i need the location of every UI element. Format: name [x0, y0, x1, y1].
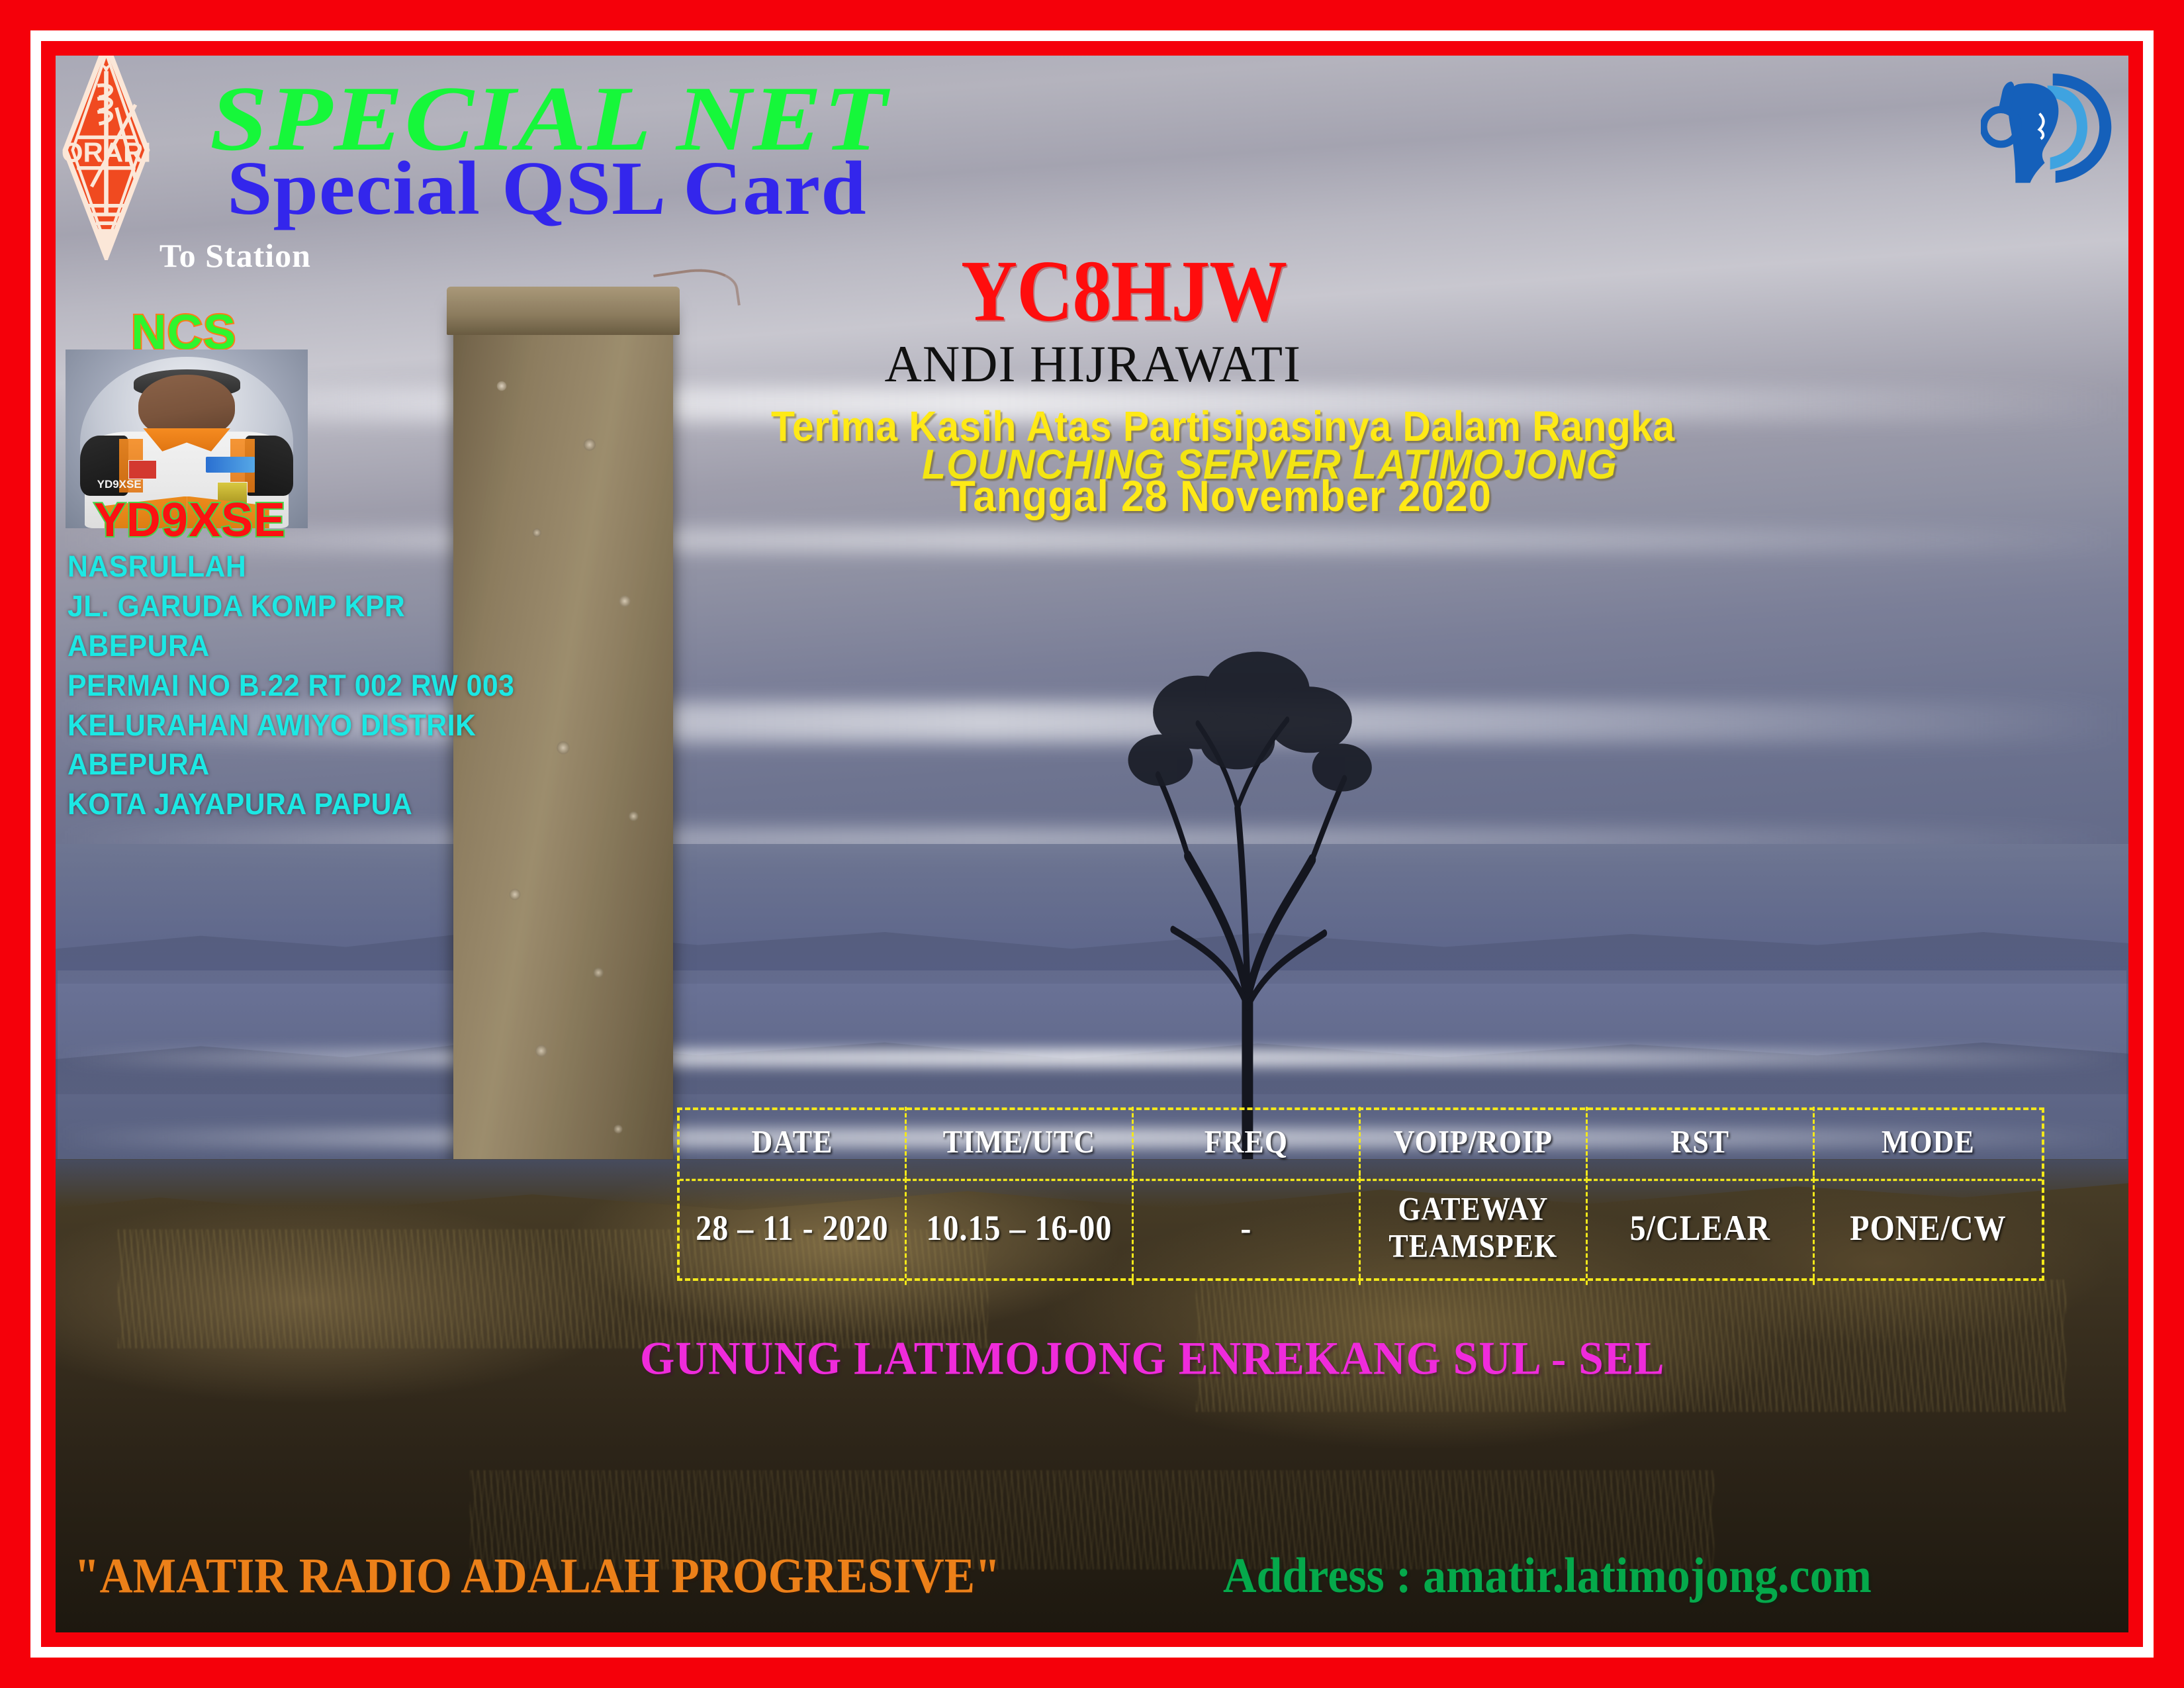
qsl-card: ORARI SPECIAL NET Special QSL Card To St… — [0, 0, 2184, 1688]
inner-red-border — [41, 41, 2143, 1647]
